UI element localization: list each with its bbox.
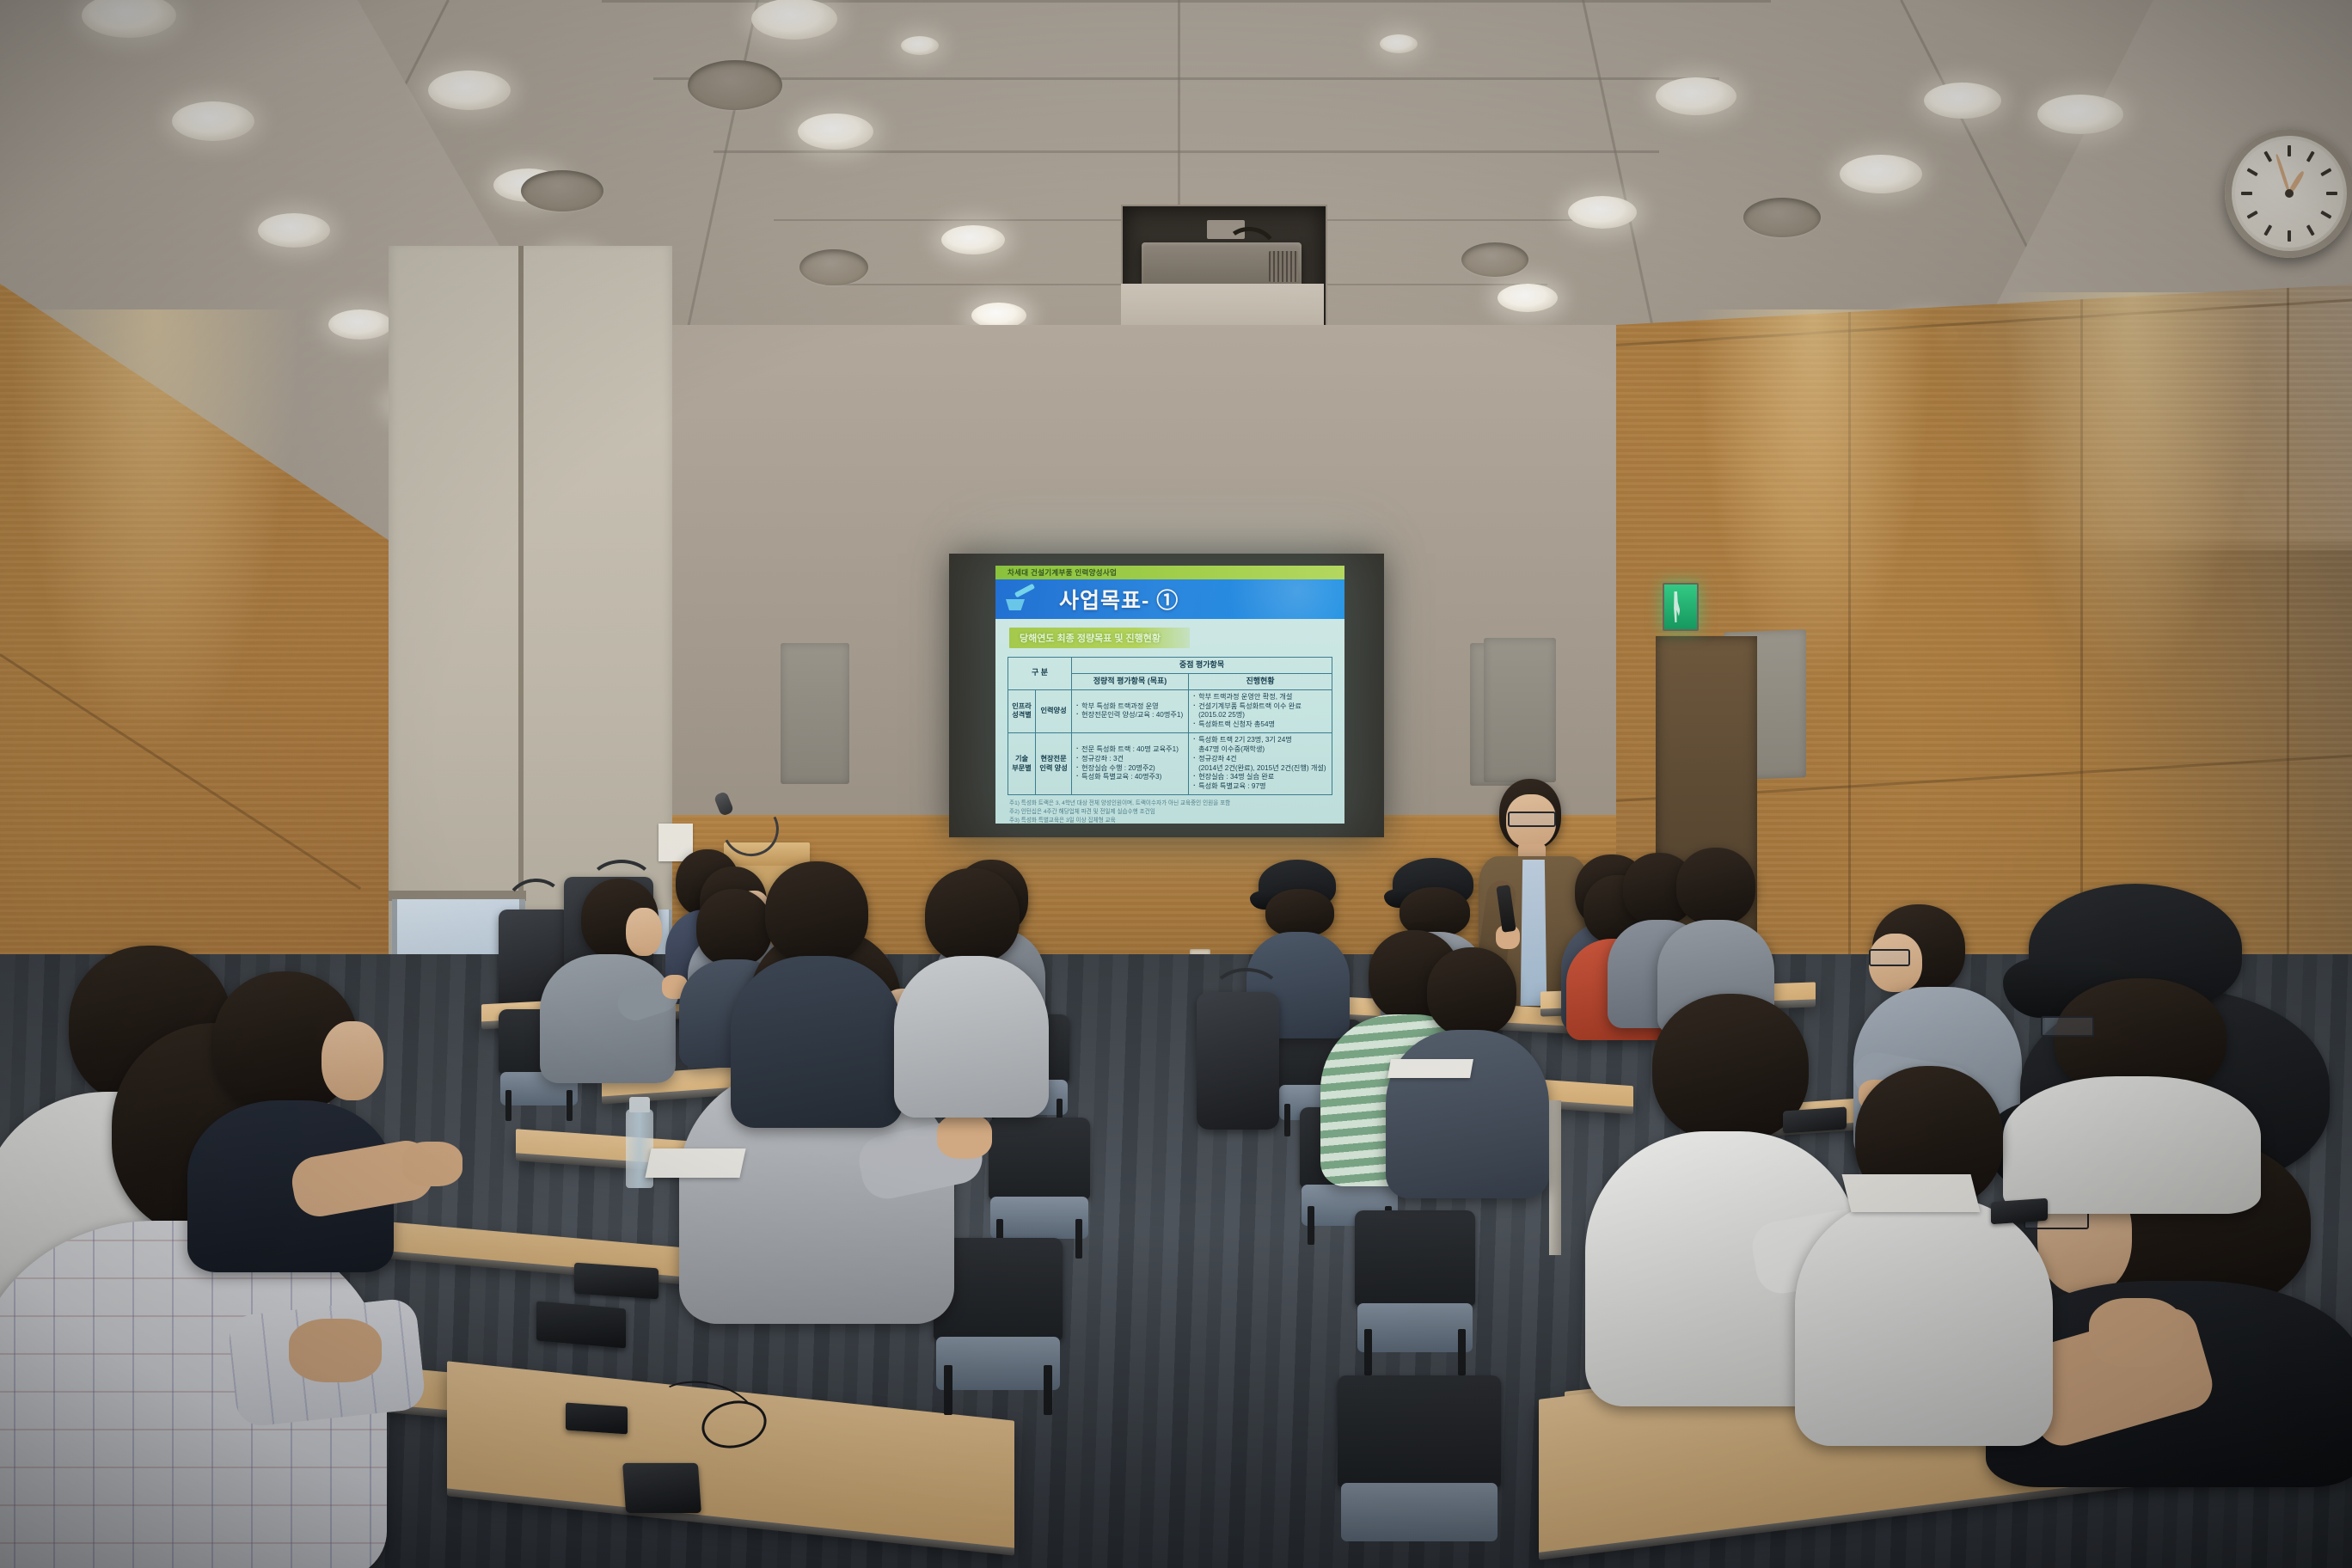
slide-content: 차세대 건설기계부품 인력양성사업 사업목표- ① 당해연도 최종 정량목표 및… <box>995 566 1344 824</box>
slide-header-text: 차세대 건설기계부품 인력양성사업 <box>1008 567 1117 578</box>
acoustic-panel-left <box>781 643 849 784</box>
notebook <box>1387 1059 1473 1078</box>
attendee-glasses <box>2041 1016 2094 1037</box>
excavator-icon <box>1002 585 1047 614</box>
slide-subtitle-text: 당해연도 최종 정량목표 및 진행현황 <box>1020 631 1161 645</box>
attendee-gray-longsleeve <box>535 879 681 1076</box>
ceiling-speaker <box>688 60 782 110</box>
th-progress: 진행현황 <box>1189 673 1332 689</box>
chair[interactable] <box>1355 1210 1475 1375</box>
device-case <box>566 1402 628 1434</box>
downlight <box>328 309 392 340</box>
clock-minute-hand <box>2275 154 2291 194</box>
downlight <box>1568 196 1637 229</box>
target-item: 전문 특성화 트랙 : 40명 교육주1) <box>1075 745 1185 755</box>
attendee-glasses <box>1869 949 1910 966</box>
downlight <box>1924 83 2001 119</box>
clock-hub <box>2285 189 2294 198</box>
progress-item: 정규강좌 4건 <box>1192 755 1328 764</box>
attendee <box>187 971 394 1255</box>
cell-targets: 학부 특성화 트랙과정 운영 현장전문인력 양성/교육 : 40명주1) <box>1072 689 1189 732</box>
target-item: 현장실습 수행 : 20명주2) <box>1075 764 1185 774</box>
th-category: 구 분 <box>1008 658 1072 690</box>
audio-device <box>622 1463 701 1513</box>
ceiling-speaker <box>799 249 868 285</box>
slide-subtitle-band: 당해연도 최종 정량목표 및 진행현황 <box>1009 628 1190 648</box>
downlight <box>941 225 1005 254</box>
progress-item: 총47명 이수중(재학생) <box>1192 745 1328 755</box>
target-item: 학부 특성화 트랙과정 운영 <box>1075 702 1185 712</box>
backpack-strap <box>1210 968 1283 1023</box>
downlight <box>1380 34 1418 53</box>
cell-subcategory: 현장전문인력 양성 <box>1036 733 1072 795</box>
slide-title-bar: 사업목표- ① <box>995 579 1344 619</box>
cell-category: 인프라성격별 <box>1008 689 1036 732</box>
paper-sheet <box>645 1148 745 1178</box>
cell-category: 기술부문별 <box>1008 733 1036 795</box>
progress-item: 현장실습 : 34명 실습 완료 <box>1192 773 1328 782</box>
wallet <box>536 1301 626 1348</box>
attendee <box>731 861 903 1119</box>
cell-subcategory: 인력양성 <box>1036 689 1072 732</box>
table-row: 기술부문별 현장전문인력 양성 전문 특성화 트랙 : 40명 교육주1) 정규… <box>1008 733 1332 795</box>
target-item: 현장전문인력 양성/교육 : 40명주1) <box>1075 711 1185 720</box>
downlight <box>2037 95 2123 134</box>
target-item: 특성화 특별교육 : 40명주3) <box>1075 773 1185 782</box>
attendee <box>894 868 1049 1109</box>
downlight <box>901 36 939 55</box>
progress-item: 건설기계부품 특성화트랙 이수 완료 <box>1192 702 1328 712</box>
ceiling-speaker <box>521 170 603 211</box>
ceiling-speaker <box>1461 242 1528 277</box>
slide-title: 사업목표- ① <box>1059 584 1179 615</box>
bottle-cap <box>629 1097 650 1112</box>
downlight <box>1498 284 1558 312</box>
wall-clock <box>2225 129 2352 258</box>
smartphone <box>1783 1106 1847 1133</box>
footnote: 주3) 특성화 특별교육은 3일 이상 집체형 교육 <box>1009 817 1331 824</box>
progress-item: 특성화트랙 신청자 총54명 <box>1192 720 1328 730</box>
smartphone <box>574 1263 658 1300</box>
acoustic-panel-right-wall <box>1484 638 1556 782</box>
th-group: 중점 평가항목 <box>1072 658 1332 674</box>
slide-header-strip: 차세대 건설기계부품 인력양성사업 <box>995 566 1344 579</box>
chair[interactable] <box>1338 1375 1501 1568</box>
downlight <box>798 113 873 150</box>
presenter-glasses <box>1508 812 1556 827</box>
progress-item: 학부 트랙과정 운영안 확정, 개설 <box>1192 693 1328 702</box>
downlight <box>1840 155 1922 193</box>
table-row: 인프라성격별 인력양성 학부 특성화 트랙과정 운영 현장전문인력 양성/교육 … <box>1008 689 1332 732</box>
running-man-icon <box>1673 591 1680 622</box>
slide-footnotes: 주1) 특성화 트랙은 3, 4학년 대상 전체 양성인원이며, 트랙이수자가 … <box>1009 799 1331 824</box>
cell-targets: 전문 특성화 트랙 : 40명 교육주1) 정규강좌 : 3건 현장실습 수행 … <box>1072 733 1189 795</box>
progress-item: 특성화 특별교육 : 97명 <box>1192 782 1328 792</box>
ceiling-speaker <box>1743 198 1821 237</box>
seminar-room-photo: 차세대 건설기계부품 인력양성사업 사업목표- ① 당해연도 최종 정량목표 및… <box>0 0 2352 1568</box>
projection-screen: 차세대 건설기계부품 인력양성사업 사업목표- ① 당해연도 최종 정량목표 및… <box>995 566 1344 824</box>
downlight <box>751 0 837 40</box>
emergency-exit-sign <box>1663 583 1699 631</box>
progress-item: (2014년 2건(완료), 2015년 2건(진행) 개설) <box>1192 764 1328 774</box>
slide-table: 구 분 중점 평가항목 정량적 평가항목 (목표) 진행현황 인프라성격별 인력… <box>1008 657 1332 795</box>
target-item: 정규강좌 : 3건 <box>1075 755 1185 764</box>
downlight <box>1656 77 1736 115</box>
progress-item: (2015.02 25명) <box>1192 711 1328 720</box>
cell-progress: 특성화 트랙 2기 23명, 3기 24명 총47명 이수중(재학생) 정규강좌… <box>1189 733 1332 795</box>
cell-progress: 학부 트랙과정 운영안 확정, 개설 건설기계부품 특성화트랙 이수 완료 (2… <box>1189 689 1332 732</box>
downlight <box>172 101 254 141</box>
smartphone <box>1991 1198 2048 1225</box>
table-header-row: 구 분 중점 평가항목 <box>1008 658 1332 674</box>
progress-item: 특성화 트랙 2기 23명, 3기 24명 <box>1192 736 1328 745</box>
footnote: 주2) 인턴십은 4주간 해당업체 파견 및 전일제 실습수행 조건임 <box>1009 808 1331 817</box>
th-targets: 정량적 평가항목 (목표) <box>1072 673 1189 689</box>
clock-face <box>2235 139 2343 248</box>
footnote: 주1) 특성화 트랙은 3, 4학년 대상 전체 양성인원이며, 트랙이수자가 … <box>1009 799 1331 808</box>
downlight <box>258 213 330 248</box>
desk-leg <box>1549 1100 1561 1255</box>
downlight <box>428 70 511 110</box>
paper-sheet <box>1842 1174 1981 1212</box>
